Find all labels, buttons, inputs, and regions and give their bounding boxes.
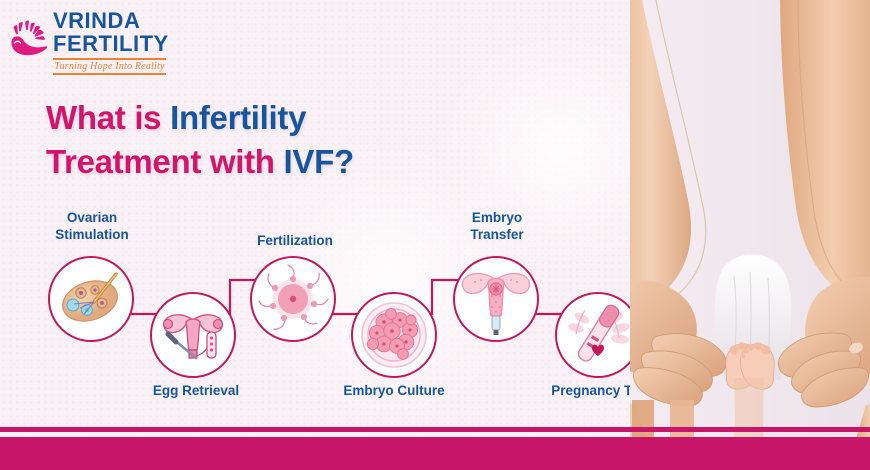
brand-name-line1: VRINDA [53, 10, 169, 32]
step-circle-egg-retrieval[interactable] [150, 292, 236, 378]
photo-legs-overlap [630, 400, 870, 440]
step-circle-embryo-culture[interactable] [351, 292, 437, 378]
brand-logo-text: VRINDA FERTILITY Turning Hope Into Reali… [53, 10, 169, 75]
title-part-infertility: Infertility [170, 99, 306, 136]
pregnancy-test-stick-heart-icon [557, 294, 639, 376]
footer-thin-stripe [0, 427, 870, 432]
title-part-ivf: IVF? [284, 143, 354, 180]
step-circle-pregnancy-test[interactable] [555, 292, 641, 378]
ivf-process-flow: Ovarian Stimulation [0, 196, 700, 411]
uterus-catheter-transfer-icon [455, 258, 537, 340]
step-circle-embryo-transfer[interactable] [453, 256, 539, 342]
step-label-egg-retrieval: Egg Retrieval [131, 382, 261, 399]
ovary-follicles-icon [50, 258, 132, 340]
petri-dish-embryo-cells-icon [353, 294, 435, 376]
title-part-what-is: What is [46, 99, 170, 136]
vrinda-hand-bird-mark-icon [5, 16, 53, 64]
egg-sperm-fertilization-icon [252, 258, 334, 340]
footer-bar [0, 437, 870, 470]
step-label-embryo-culture: Embryo Culture [329, 382, 459, 399]
title-part-treatment-with: Treatment with [46, 143, 284, 180]
step-circle-ovarian-stimulation[interactable] [48, 256, 134, 342]
step-label-embryo-transfer: Embryo Transfer [432, 209, 562, 243]
page-title: What is Infertility Treatment with IVF? [46, 96, 466, 184]
tagline-bottom-rule [53, 73, 166, 75]
brand-tagline-block: Turning Hope Into Reality [53, 58, 166, 75]
brand-tagline: Turning Hope Into Reality [53, 60, 166, 73]
step-label-ovarian-stimulation: Ovarian Stimulation [27, 209, 157, 243]
step-circle-fertilization[interactable] [250, 256, 336, 342]
hands-cradling-baby-feet-photo [630, 0, 870, 440]
brand-name-line2: FERTILITY [53, 33, 169, 55]
infographic-banner: VRINDA FERTILITY Turning Hope Into Reali… [0, 0, 870, 470]
step-label-fertilization: Fertilization [230, 232, 360, 249]
uterus-needle-retrieval-icon [152, 294, 234, 376]
brand-logo[interactable]: VRINDA FERTILITY Turning Hope Into Reali… [5, 8, 190, 78]
